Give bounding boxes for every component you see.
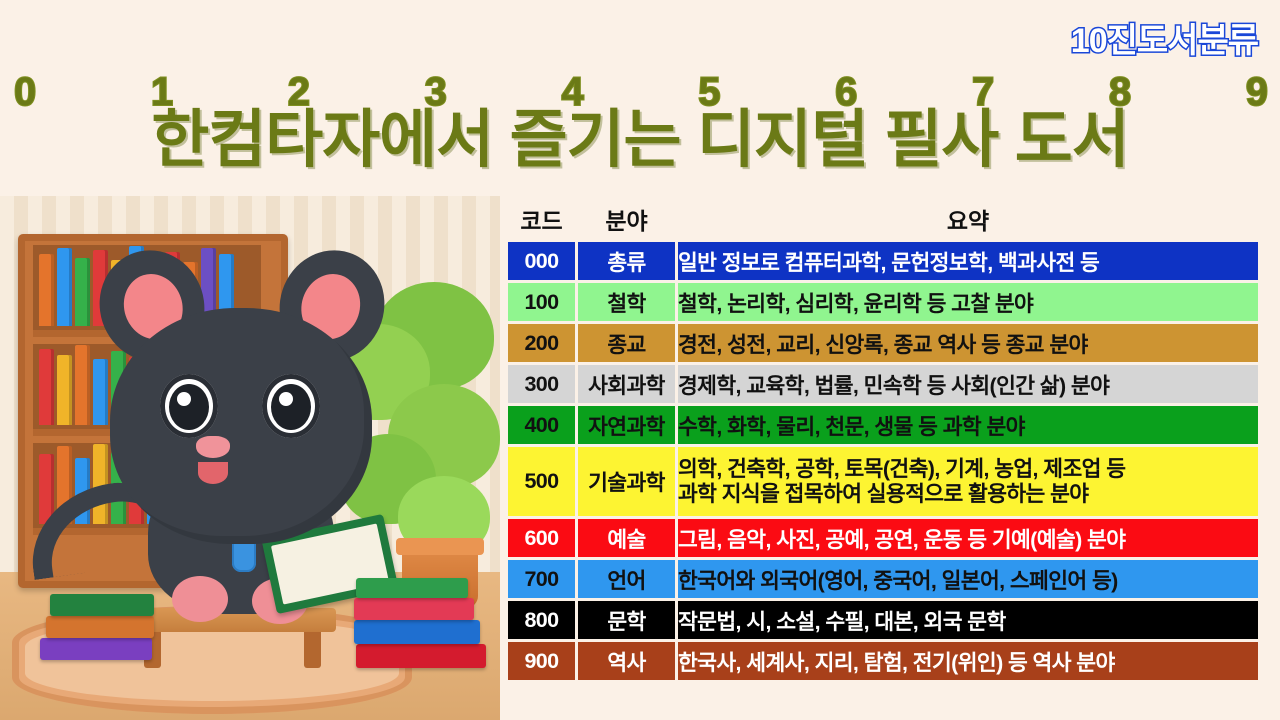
table-row: 700 언어 한국어와 외국어(영어, 중국어, 일본어, 스페인어 등) (508, 560, 1258, 601)
cell-summary: 한국어와 외국어(영어, 중국어, 일본어, 스페인어 등) (678, 560, 1258, 601)
cat-head (110, 308, 372, 544)
cat-reading-illustration (0, 196, 500, 720)
cell-summary-line2: 과학 지식을 접목하여 실용적으로 활용하는 분야 (678, 482, 1258, 507)
table-row: 800 문학 작문법, 시, 소설, 수필, 대본, 외국 문학 (508, 601, 1258, 642)
cell-code: 600 (508, 519, 578, 560)
cell-code: 500 (508, 447, 578, 519)
book-stack-right (356, 578, 468, 598)
cell-summary: 작문법, 시, 소설, 수필, 대본, 외국 문학 (678, 601, 1258, 642)
cell-code: 400 (508, 406, 578, 447)
book-stack-right (356, 644, 486, 668)
table-row: 900 역사 한국사, 세계사, 지리, 탐험, 전기(위인) 등 역사 분야 (508, 642, 1258, 683)
classification-table: 코드 분야 요약 000 총류 일반 정보로 컴퓨터과학, 문헌정보학, 백과사… (508, 198, 1258, 683)
cell-summary: 철학, 논리학, 심리학, 윤리학 등 고찰 분야 (678, 283, 1258, 324)
cell-summary: 일반 정보로 컴퓨터과학, 문헌정보학, 백과사전 등 (678, 242, 1258, 283)
cell-summary: 경전, 성전, 교리, 신앙록, 종교 역사 등 종교 분야 (678, 324, 1258, 365)
book-stack-right (354, 598, 474, 620)
table-row: 600 예술 그림, 음악, 사진, 공예, 공연, 운동 등 기예(예술) 분… (508, 519, 1258, 560)
cell-code: 700 (508, 560, 578, 601)
cell-field: 예술 (578, 519, 678, 560)
cell-field: 문학 (578, 601, 678, 642)
cell-field: 역사 (578, 642, 678, 683)
cell-summary: 경제학, 교육학, 법률, 민속학 등 사회(인간 삶) 분야 (678, 365, 1258, 406)
cat-eye-left (160, 374, 218, 438)
cell-field: 자연과학 (578, 406, 678, 447)
cell-field: 종교 (578, 324, 678, 365)
cell-summary: 수학, 화학, 물리, 천문, 생물 등 과학 분야 (678, 406, 1258, 447)
cell-field: 철학 (578, 283, 678, 324)
cell-code: 100 (508, 283, 578, 324)
book-stack-right (354, 620, 480, 644)
cat-mouth (198, 462, 228, 484)
table-row: 500 기술과학 의학, 건축학, 공학, 토목(건축), 기계, 농업, 제조… (508, 447, 1258, 519)
table-row: 000 총류 일반 정보로 컴퓨터과학, 문헌정보학, 백과사전 등 (508, 242, 1258, 283)
cell-summary-line1: 의학, 건축학, 공학, 토목(건축), 기계, 농업, 제조업 등 (678, 457, 1258, 482)
table-row: 100 철학 철학, 논리학, 심리학, 윤리학 등 고찰 분야 (508, 283, 1258, 324)
cell-summary: 그림, 음악, 사진, 공예, 공연, 운동 등 기예(예술) 분야 (678, 519, 1258, 560)
table-leg (304, 628, 321, 668)
cell-field: 총류 (578, 242, 678, 283)
cell-code: 800 (508, 601, 578, 642)
cell-summary: 한국사, 세계사, 지리, 탐험, 전기(위인) 등 역사 분야 (678, 642, 1258, 683)
header-field: 분야 (578, 198, 678, 242)
table-row: 300 사회과학 경제학, 교육학, 법률, 민속학 등 사회(인간 삶) 분야 (508, 365, 1258, 406)
classification-badge: 10진도서분류 (1071, 24, 1258, 58)
table-header-row: 코드 분야 요약 (508, 198, 1258, 242)
cell-code: 200 (508, 324, 578, 365)
cell-code: 900 (508, 642, 578, 683)
header-code: 코드 (508, 198, 578, 242)
cat-paw (172, 576, 228, 622)
table-row: 200 종교 경전, 성전, 교리, 신앙록, 종교 역사 등 종교 분야 (508, 324, 1258, 365)
cat-eye-right (262, 374, 320, 438)
poster-canvas: 10진도서분류 0 1 2 3 4 5 6 7 8 9 한컴타자에서 즐기는 디… (0, 0, 1280, 720)
cell-code: 000 (508, 242, 578, 283)
cell-field: 사회과학 (578, 365, 678, 406)
book-stack-left (46, 616, 154, 638)
book-stack-left (40, 638, 152, 660)
cat-nose (196, 436, 230, 458)
cell-code: 300 (508, 365, 578, 406)
cell-field: 언어 (578, 560, 678, 601)
cell-field: 기술과학 (578, 447, 678, 519)
digit-9: 9 (1246, 72, 1268, 112)
header-summary: 요약 (678, 198, 1258, 242)
book-stack-left (50, 594, 154, 616)
table-body: 000 총류 일반 정보로 컴퓨터과학, 문헌정보학, 백과사전 등 100 철… (508, 242, 1258, 683)
table-row: 400 자연과학 수학, 화학, 물리, 천문, 생물 등 과학 분야 (508, 406, 1258, 447)
cell-summary: 의학, 건축학, 공학, 토목(건축), 기계, 농업, 제조업 등 과학 지식… (678, 447, 1258, 519)
digit-0: 0 (14, 72, 36, 112)
page-title: 한컴타자에서 즐기는 디지털 필사 도서 (0, 108, 1280, 172)
